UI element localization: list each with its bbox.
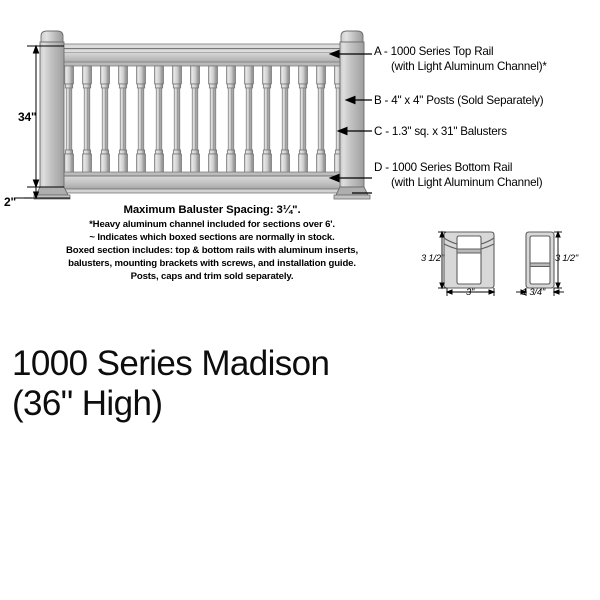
- baluster: [101, 66, 110, 174]
- baluster: [191, 66, 200, 174]
- cross-section-bottom-rail-width-label: 1 3/4": [522, 286, 545, 297]
- baluster: [173, 66, 182, 174]
- baluster: [281, 66, 290, 174]
- legend-d-main: D - 1000 Series Bottom Rail: [374, 160, 542, 175]
- baluster: [155, 66, 164, 174]
- baluster: [263, 66, 272, 174]
- baluster: [227, 66, 236, 174]
- baluster: [245, 66, 254, 174]
- legend-a-main: A - 1000 Series Top Rail: [374, 44, 547, 59]
- note-line-5: Posts, caps and trim sold separately.: [12, 270, 412, 283]
- legend-entry-a: A - 1000 Series Top Rail (with Light Alu…: [374, 44, 547, 74]
- bottom-rail: [52, 172, 352, 193]
- legend-a-sub: (with Light Aluminum Channel)*: [374, 59, 547, 74]
- product-title-line-1: 1000 Series Madison: [12, 344, 329, 384]
- baluster: [137, 66, 146, 174]
- dimension-label-height: 34": [18, 110, 36, 124]
- baluster: [209, 66, 218, 174]
- note-heading: Maximum Baluster Spacing: 3¼".: [12, 203, 412, 218]
- note-line-3: Boxed section includes: top & bottom rai…: [12, 244, 412, 257]
- cross-section-top-rail-width-label: 3": [466, 286, 474, 297]
- notes-block: Maximum Baluster Spacing: 3¼". *Heavy al…: [12, 203, 412, 283]
- legend-b-main: B - 4" x 4" Posts (Sold Separately): [374, 93, 543, 108]
- legend-entry-b: B - 4" x 4" Posts (Sold Separately): [374, 93, 543, 108]
- legend-d-sub: (with Light Aluminum Channel): [374, 175, 542, 190]
- note-line-2: ~ Indicates which boxed sections are nor…: [12, 231, 412, 244]
- legend-entry-d: D - 1000 Series Bottom Rail (with Light …: [374, 160, 542, 190]
- baluster: [83, 66, 92, 174]
- legend-c-main: C - 1.3" sq. x 31" Balusters: [374, 124, 507, 139]
- cross-section-top-rail-height-label: 3 1/2": [421, 252, 444, 263]
- baluster: [65, 66, 74, 174]
- cross-section-bottom-rail-height-label: 3 1/2": [555, 252, 578, 263]
- baluster: [299, 66, 308, 174]
- product-title-line-2: (36" High): [12, 384, 329, 424]
- note-line-4: balusters, mounting brackets with screws…: [12, 257, 412, 270]
- diagram-page: 34" 2" 3 1/2" 3" 3 1/2" 1 3/4" A - 1000 …: [0, 0, 600, 600]
- product-title: 1000 Series Madison (36" High): [12, 344, 329, 424]
- baluster: [317, 66, 326, 174]
- baluster-group: [65, 66, 344, 174]
- top-rail: [52, 44, 352, 66]
- note-line-1: *Heavy aluminum channel included for sec…: [12, 218, 412, 231]
- legend-entry-c: C - 1.3" sq. x 31" Balusters: [374, 124, 507, 139]
- baluster: [119, 66, 128, 174]
